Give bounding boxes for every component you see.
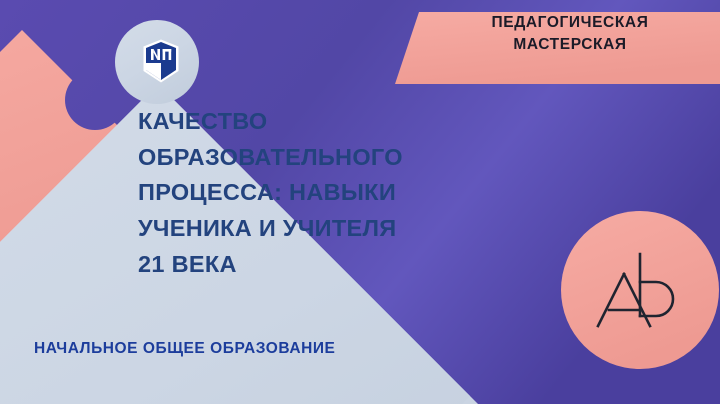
title-line-2: ОБРАЗОВАТЕЛЬНОГО (138, 140, 498, 176)
ab-monogram (594, 248, 686, 334)
title-line-1: КАЧЕСТВО (138, 104, 498, 140)
title-line-4: УЧЕНИКА И УЧИТЕЛЯ (138, 211, 498, 247)
slide-subtitle: НАЧАЛЬНОЕ ОБЩЕЕ ОБРАЗОВАНИЕ (34, 340, 335, 358)
ip-shield-logo (142, 38, 180, 84)
header-banner-line-1: ПЕДАГОГИЧЕСКАЯ (430, 12, 710, 34)
header-banner: ПЕДАГОГИЧЕСКАЯ МАСТЕРСКАЯ (430, 12, 710, 56)
title-line-3: ПРОЦЕССА: НАВЫКИ (138, 175, 498, 211)
header-banner-line-2: МАСТЕРСКАЯ (430, 34, 710, 56)
title-line-5: 21 ВЕКА (138, 247, 498, 283)
slide-title: КАЧЕСТВО ОБРАЗОВАТЕЛЬНОГО ПРОЦЕССА: НАВЫ… (138, 104, 498, 283)
presentation-slide: ПЕДАГОГИЧЕСКАЯ МАСТЕРСКАЯ КАЧЕСТВО ОБРАЗ… (0, 0, 720, 404)
